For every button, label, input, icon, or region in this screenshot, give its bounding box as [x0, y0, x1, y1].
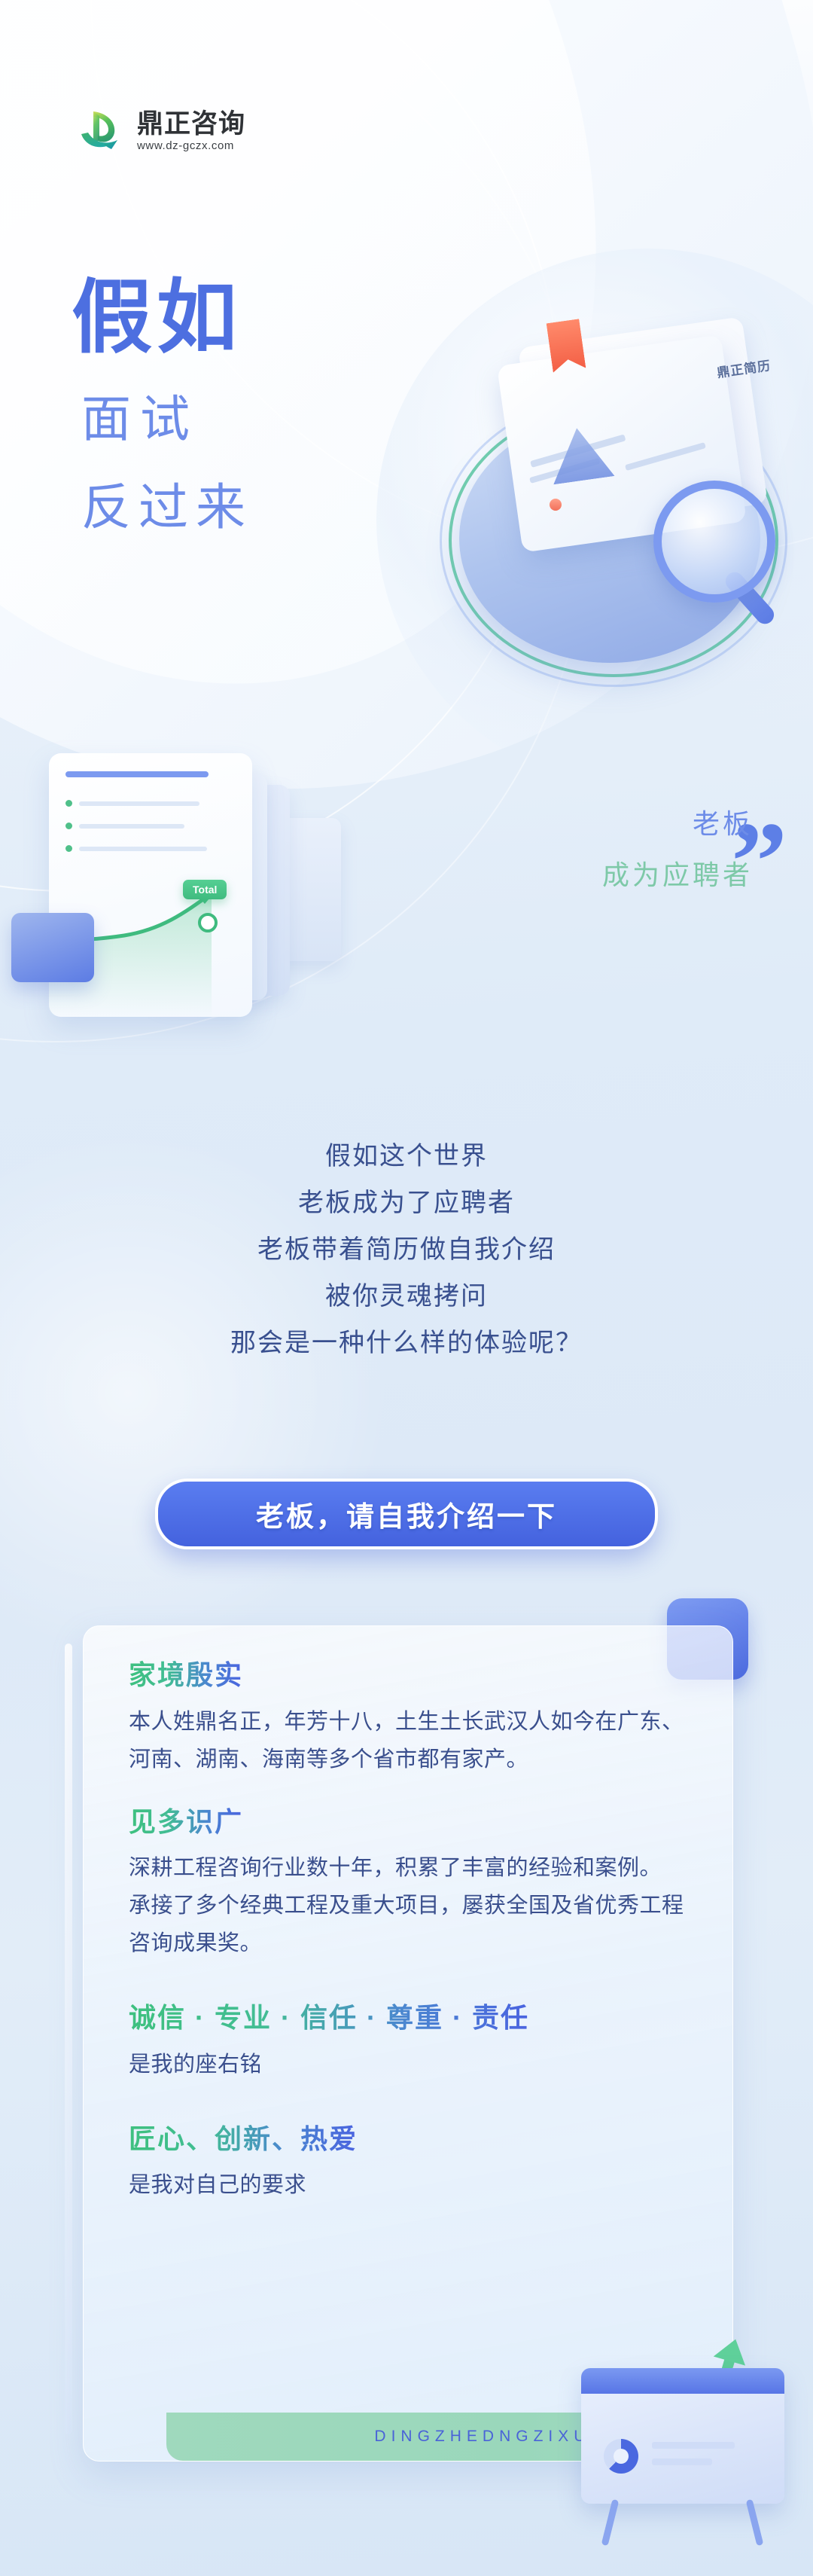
cta-button[interactable]: 老板，请自我介绍一下	[155, 1479, 658, 1549]
chart-blue-tab	[11, 913, 94, 982]
paragraph-line: 老板带着简历做自我介绍	[0, 1227, 813, 1274]
section-body-part-1: 深耕工程咨询行业数十年，积累了丰富的经验和案例。	[129, 1850, 692, 1888]
resume-dot-1	[550, 499, 562, 511]
quote-line-2: 成为应聘者	[602, 850, 753, 901]
chart-total-badge: Total	[183, 880, 227, 899]
profile-section-3: 诚信 · 专业 · 信任 · 尊重 · 责任 是我的座右铭	[129, 2001, 692, 2084]
section-body: 是我的座右铭	[129, 2046, 692, 2084]
paragraph-line: 老板成为了应聘者	[0, 1180, 813, 1227]
profile-section-1: 家境殷实 本人姓鼎名正，年芳十八，土生土长武汉人如今在广东、河南、湖南、海南等多…	[129, 1658, 692, 1779]
paragraph-line: 被你灵魂拷问	[0, 1274, 813, 1320]
presentation-easel-illustration	[551, 2329, 799, 2555]
resume-with-magnifier-illustration: 鼎正简历	[437, 301, 790, 693]
hero-title-line3: 反过来	[81, 482, 253, 532]
magnifier-icon	[653, 481, 775, 603]
brand-name: 鼎正咨询	[137, 111, 245, 137]
section-body: 是我对自己的要求	[129, 2167, 692, 2205]
pie-chart-icon	[604, 2439, 638, 2474]
section-heading: 见多识广	[129, 1805, 243, 1840]
profile-section-4: 匠心、创新、热爱 是我对自己的要求	[129, 2122, 692, 2205]
paragraph-line: 假如这个世界	[0, 1134, 813, 1180]
hero-title-line1: 假如	[72, 277, 242, 358]
section-heading: 匠心、创新、热爱	[129, 2122, 358, 2157]
chart-data-node	[198, 913, 218, 932]
section-heading: 家境殷实	[129, 1658, 243, 1693]
section-body-part-2: 承接了多个经典工程及重大项目，屡获全国及省优秀工程咨询成果奖。	[129, 1888, 692, 1963]
quote-subtitle: 老板 成为应聘者	[602, 798, 753, 902]
report-card-illustration: Total	[41, 746, 373, 1062]
brand-logo: 鼎正咨询 www.dz-gczx.com	[78, 107, 245, 155]
brand-website: www.dz-gczx.com	[137, 140, 245, 151]
cta-button-label: 老板，请自我介绍一下	[256, 1494, 557, 1534]
paragraph-line: 那会是一种什么样的体验呢？	[0, 1320, 813, 1367]
section-heading: 诚信 · 专业 · 信任 · 尊重 · 责任	[129, 2001, 529, 2036]
section-body: 本人姓鼎名正，年芳十八，土生土长武汉人如今在广东、河南、湖南、海南等多个省市都有…	[129, 1704, 692, 1779]
intro-paragraph: 假如这个世界 老板成为了应聘者 老板带着简历做自我介绍 被你灵魂拷问 那会是一种…	[0, 1134, 813, 1366]
card-left-strip	[65, 1644, 72, 2434]
quote-line-1: 老板	[602, 798, 753, 850]
easel-board-header	[581, 2368, 784, 2394]
profile-section-2: 见多识广 深耕工程咨询行业数十年，积累了丰富的经验和案例。 承接了多个经典工程及…	[129, 1805, 692, 1963]
dingzheng-leaf-logo-icon	[78, 107, 126, 155]
hero-title-line2: 面试	[81, 394, 199, 444]
